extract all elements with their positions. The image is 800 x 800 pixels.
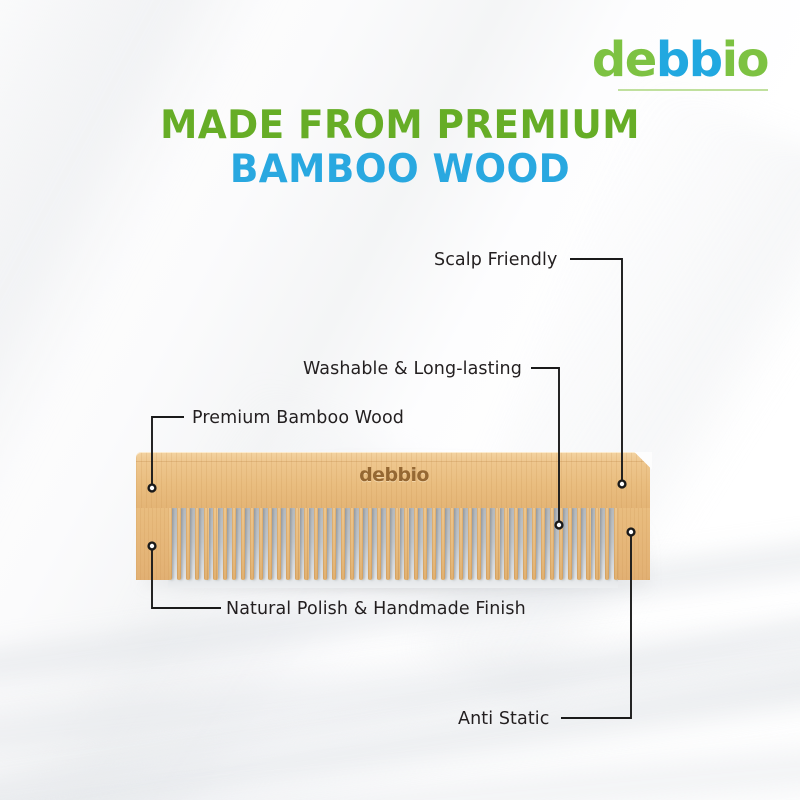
- headline-line-2: BAMBOO WOOD: [16, 148, 784, 192]
- comb-tooth: [459, 508, 463, 580]
- comb-tooth: [495, 508, 499, 580]
- comb-engraved-logo: debbio: [136, 464, 652, 486]
- infographic-canvas: debbio MADE FROM PREMIUM BAMBOO WOOD deb…: [0, 0, 800, 800]
- comb-tooth: [523, 508, 527, 580]
- comb-tooth: [304, 508, 308, 580]
- comb-tooth: [350, 508, 354, 580]
- comb-tooth: [332, 508, 336, 580]
- brand-logo-wordmark: debbio: [592, 36, 768, 84]
- comb-tooth: [223, 508, 227, 580]
- comb-tooth: [577, 508, 581, 580]
- page-title: MADE FROM PREMIUM BAMBOO WOOD: [0, 104, 800, 191]
- callout-label-washable: Washable & Long-lasting: [303, 359, 522, 379]
- comb-tooth: [232, 508, 236, 580]
- logo-text-de: de: [592, 32, 656, 88]
- comb-tooth: [586, 508, 590, 580]
- comb-tooth: [286, 508, 290, 580]
- comb-tooth: [504, 508, 508, 580]
- comb-tooth: [595, 508, 599, 580]
- comb-tooth: [186, 508, 190, 580]
- comb-tooth: [195, 508, 199, 580]
- comb-teeth-group: [168, 508, 618, 588]
- comb-tooth: [204, 508, 208, 580]
- comb-tooth: [377, 508, 381, 580]
- comb-tooth: [568, 508, 572, 580]
- connector-scalp-friendly: [570, 259, 622, 480]
- callout-label-scalp-friendly: Scalp Friendly: [434, 250, 557, 270]
- comb-tooth: [450, 508, 454, 580]
- comb-teeth: [168, 508, 618, 588]
- comb-tooth: [559, 508, 563, 580]
- comb-right-cap: [618, 508, 650, 580]
- comb-tooth: [486, 508, 490, 580]
- comb-tooth: [368, 508, 372, 580]
- comb-tooth: [550, 508, 554, 580]
- comb-tooth: [314, 508, 318, 580]
- comb-tooth: [341, 508, 345, 580]
- comb-tooth: [386, 508, 390, 580]
- comb-tooth: [532, 508, 536, 580]
- product-image-comb: debbio: [136, 450, 652, 590]
- comb-tooth: [468, 508, 472, 580]
- comb-left-cap: [136, 508, 169, 580]
- logo-text-io: io: [722, 32, 768, 88]
- callout-label-premium-bamboo: Premium Bamboo Wood: [192, 408, 404, 428]
- comb-tooth: [323, 508, 327, 580]
- callout-label-natural-polish: Natural Polish & Handmade Finish: [226, 599, 526, 619]
- brand-logo: debbio: [592, 36, 768, 91]
- headline-line-1: MADE FROM PREMIUM: [16, 104, 784, 148]
- comb-tooth: [432, 508, 436, 580]
- callout-label-anti-static: Anti Static: [458, 709, 550, 729]
- comb-tooth: [395, 508, 399, 580]
- comb-tooth: [250, 508, 254, 580]
- comb-tooth: [541, 508, 545, 580]
- comb-tooth: [404, 508, 408, 580]
- comb-tooth: [268, 508, 272, 580]
- comb-tooth: [241, 508, 245, 580]
- comb-tooth: [213, 508, 217, 580]
- comb-tooth: [414, 508, 418, 580]
- comb-tooth: [277, 508, 281, 580]
- logo-text-bb: bb: [656, 32, 722, 88]
- comb-tooth: [441, 508, 445, 580]
- comb-tooth: [359, 508, 363, 580]
- comb-tooth: [423, 508, 427, 580]
- logo-underline: [618, 89, 768, 91]
- comb-tooth: [259, 508, 263, 580]
- comb-tooth: [605, 508, 609, 580]
- comb-tooth: [295, 508, 299, 580]
- comb-tooth: [177, 508, 181, 580]
- comb-tooth: [477, 508, 481, 580]
- comb-tooth: [514, 508, 518, 580]
